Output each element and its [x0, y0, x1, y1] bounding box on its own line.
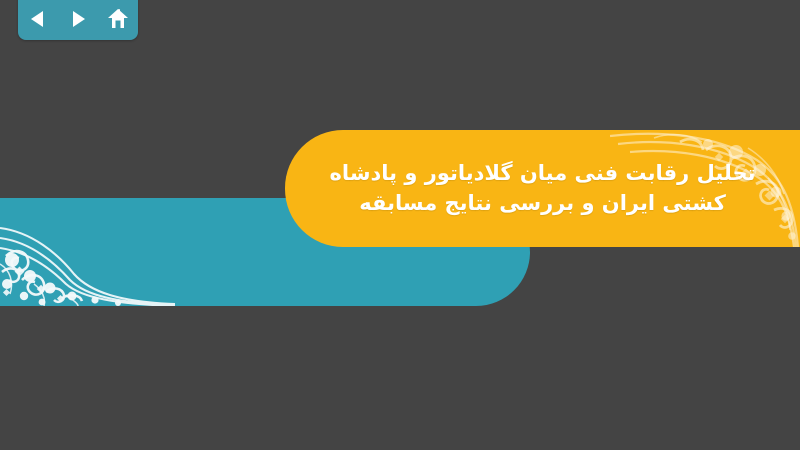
slide-canvas: تحلیل رقابت فنی میان گلادیاتور و پادشاه … [0, 0, 800, 450]
home-house-icon [107, 8, 129, 30]
back-triangle-icon [28, 9, 48, 29]
arabesque-corner-ornament-teal [0, 198, 175, 306]
home-button[interactable] [103, 4, 133, 34]
slide-title-line-1: تحلیل رقابت فنی میان گلادیاتور و پادشاه [330, 159, 756, 189]
forward-triangle-icon [68, 9, 88, 29]
forward-button[interactable] [63, 4, 93, 34]
back-button[interactable] [23, 4, 53, 34]
title-plate: تحلیل رقابت فنی میان گلادیاتور و پادشاه … [285, 130, 800, 247]
slide-title-line-2: کشتی ایران و بررسی نتایج مسابقه [359, 189, 726, 219]
slide-title: تحلیل رقابت فنی میان گلادیاتور و پادشاه … [285, 130, 800, 247]
navigation-bar [18, 0, 138, 40]
